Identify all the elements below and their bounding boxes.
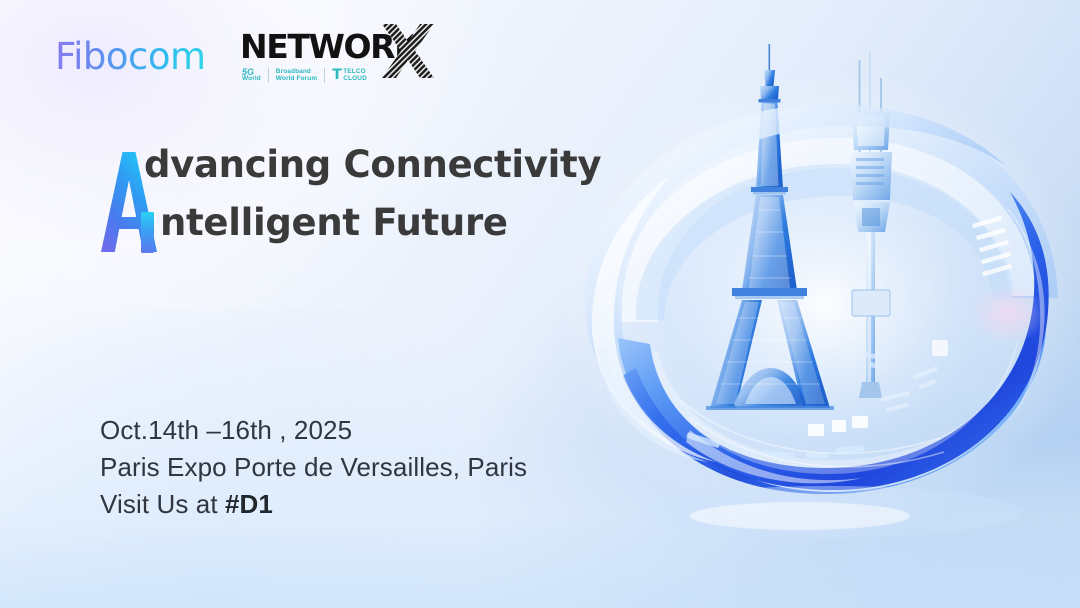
event-venue: Paris Expo Porte de Versailles, Paris xyxy=(100,449,527,486)
telco-cloud-t-icon: T xyxy=(332,70,342,81)
networkx-x-icon xyxy=(379,22,437,80)
sub-brand-telco-line2: CLOUD xyxy=(343,76,367,83)
sub-brand-5g-line2: World xyxy=(242,76,261,83)
headline-line-1: dvancing Connectivity xyxy=(100,146,620,198)
sub-brand-bwf-line2: World Forum xyxy=(276,76,317,83)
headline: dvancing Connectivity ntelligent Future xyxy=(100,146,620,256)
sub-brand-5g-world: 5G World xyxy=(242,68,261,83)
event-booth-number: #D1 xyxy=(225,489,273,519)
event-booth-line: Visit Us at #D1 xyxy=(100,486,527,523)
sub-brand-divider-1 xyxy=(268,68,269,83)
event-booth-prefix: Visit Us at xyxy=(100,489,225,519)
headline-line-1-text: dvancing Connectivity xyxy=(100,146,601,183)
sub-brand-telco-cloud: T TELCO CLOUD xyxy=(332,69,367,83)
promo-banner: Fibocom NETWORK 5G World xyxy=(0,0,1080,608)
networkx-logo: NETWORK 5G World Broadband xyxy=(240,28,435,100)
event-dates: Oct.14th –16th , 2025 xyxy=(100,412,527,449)
ai-letter-i-icon xyxy=(141,212,154,253)
networkx-sub-brands: 5G World Broadband World Forum T TELCO C… xyxy=(242,68,367,83)
fibocom-logo: Fibocom xyxy=(55,38,206,75)
headline-line-2-text: ntelligent Future xyxy=(100,204,508,241)
event-info: Oct.14th –16th , 2025 Paris Expo Porte d… xyxy=(100,412,527,523)
sub-brand-divider-2 xyxy=(324,68,325,83)
logo-row: Fibocom NETWORK 5G World xyxy=(0,0,1080,110)
headline-line-2: ntelligent Future xyxy=(100,204,620,256)
sub-brand-broadband-world-forum: Broadband World Forum xyxy=(276,69,317,83)
